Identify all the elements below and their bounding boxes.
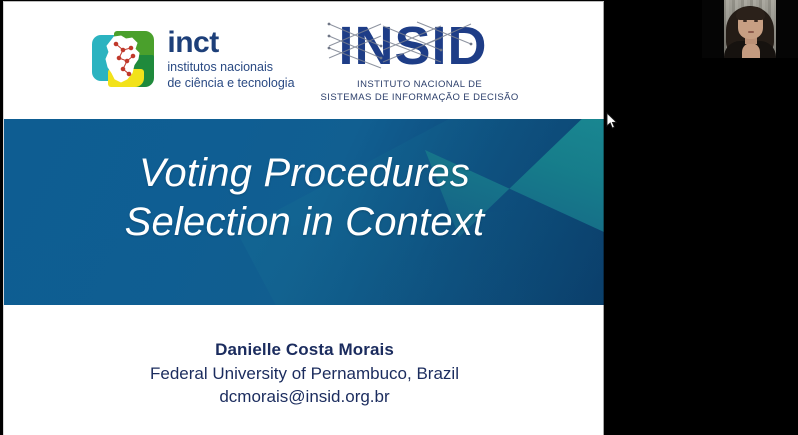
insid-wordmark: INSID	[321, 16, 506, 78]
presenter-chest	[742, 43, 760, 58]
screen-share-view: inct institutos nacionais de ciência e t…	[0, 0, 798, 435]
inct-logo: inct institutos nacionais de ciência e t…	[90, 28, 294, 91]
slide-author-block: Danielle Costa Morais Federal University…	[4, 305, 604, 407]
presenter-mouth	[748, 31, 754, 33]
slide-title-line2: Selection in Context	[4, 198, 604, 247]
insid-mark: INSID	[321, 16, 506, 78]
video-letterbox-right	[776, 0, 798, 58]
slide-title: Voting Procedures Selection in Context	[4, 149, 604, 247]
presentation-slide[interactable]: inct institutos nacionais de ciência e t…	[3, 1, 604, 435]
inct-wordmark: inct	[167, 28, 294, 58]
slide-logo-header: inct institutos nacionais de ciência e t…	[4, 2, 604, 118]
inct-logo-text: inct institutos nacionais de ciência e t…	[167, 28, 294, 91]
insid-tagline-line1: INSTITUTO NACIONAL DE	[321, 79, 519, 92]
slide-title-line1: Voting Procedures	[139, 151, 470, 195]
insid-logo: INSID	[321, 16, 519, 105]
inct-tagline-line1: institutos nacionais	[167, 60, 294, 76]
video-letterbox-left	[702, 0, 724, 58]
author-name: Danielle Costa Morais	[4, 340, 604, 360]
author-affiliation: Federal University of Pernambuco, Brazil	[4, 364, 604, 384]
presenter-eye-right	[754, 20, 758, 22]
inct-brazil-map-icon	[90, 29, 158, 91]
author-email: dcmorais@insid.org.br	[4, 387, 604, 407]
insid-tagline-line2: SISTEMAS DE INFORMAÇÃO E DECISÃO	[321, 92, 519, 105]
slide-title-banner: Voting Procedures Selection in Context	[4, 119, 604, 305]
presenter-video-tile[interactable]	[702, 0, 798, 58]
inct-tagline-line2: de ciência e tecnologia	[167, 76, 294, 92]
presenter-fringe	[736, 7, 765, 20]
presenter-eye-left	[743, 20, 747, 22]
mouse-cursor-icon	[606, 112, 618, 130]
